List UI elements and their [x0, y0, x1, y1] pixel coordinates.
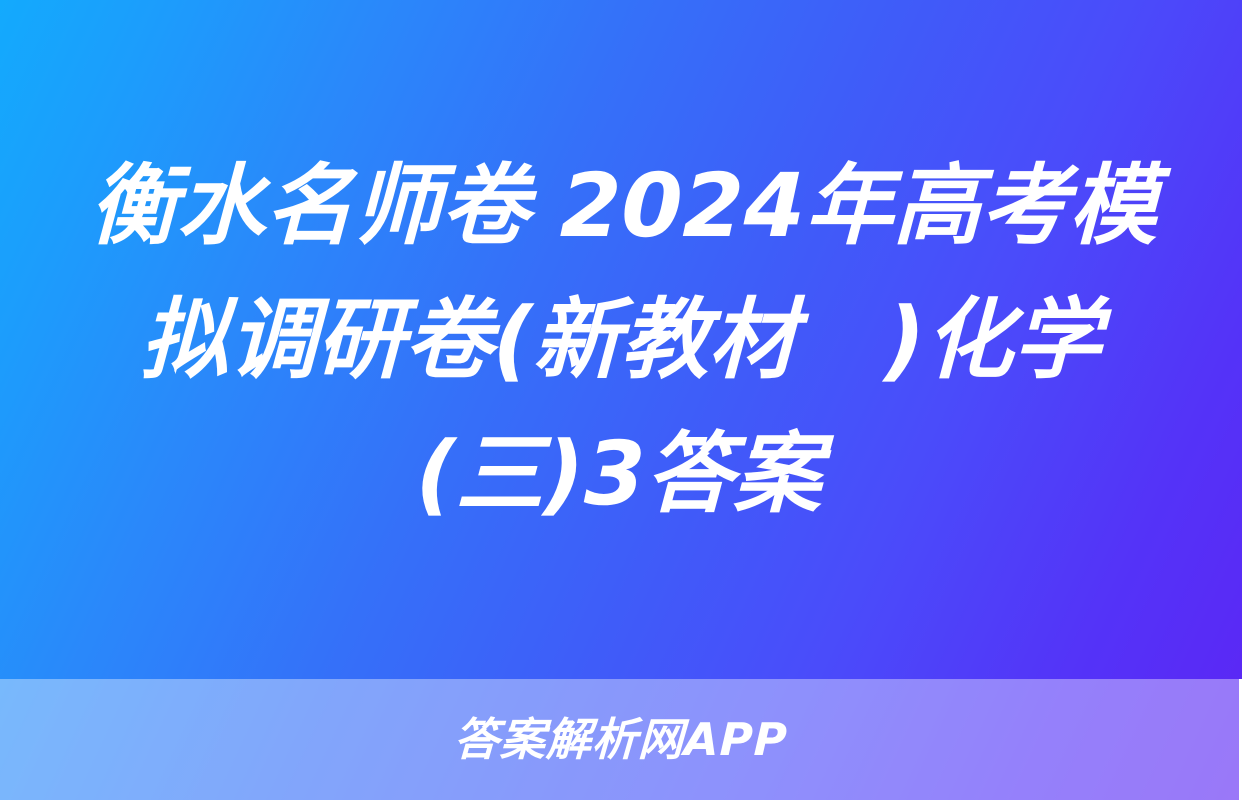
page-title: 衡水名师卷 2024年高考模拟调研卷(新教材 )化学(三)3答案: [58, 139, 1183, 540]
poster-card: 衡水名师卷 2024年高考模拟调研卷(新教材 )化学(三)3答案 答案解析网AP…: [0, 0, 1242, 800]
title-block: 衡水名师卷 2024年高考模拟调研卷(新教材 )化学(三)3答案: [0, 0, 1242, 679]
footer-band: 答案解析网APP: [0, 679, 1242, 800]
app-brand-label: 答案解析网APP: [453, 717, 788, 762]
